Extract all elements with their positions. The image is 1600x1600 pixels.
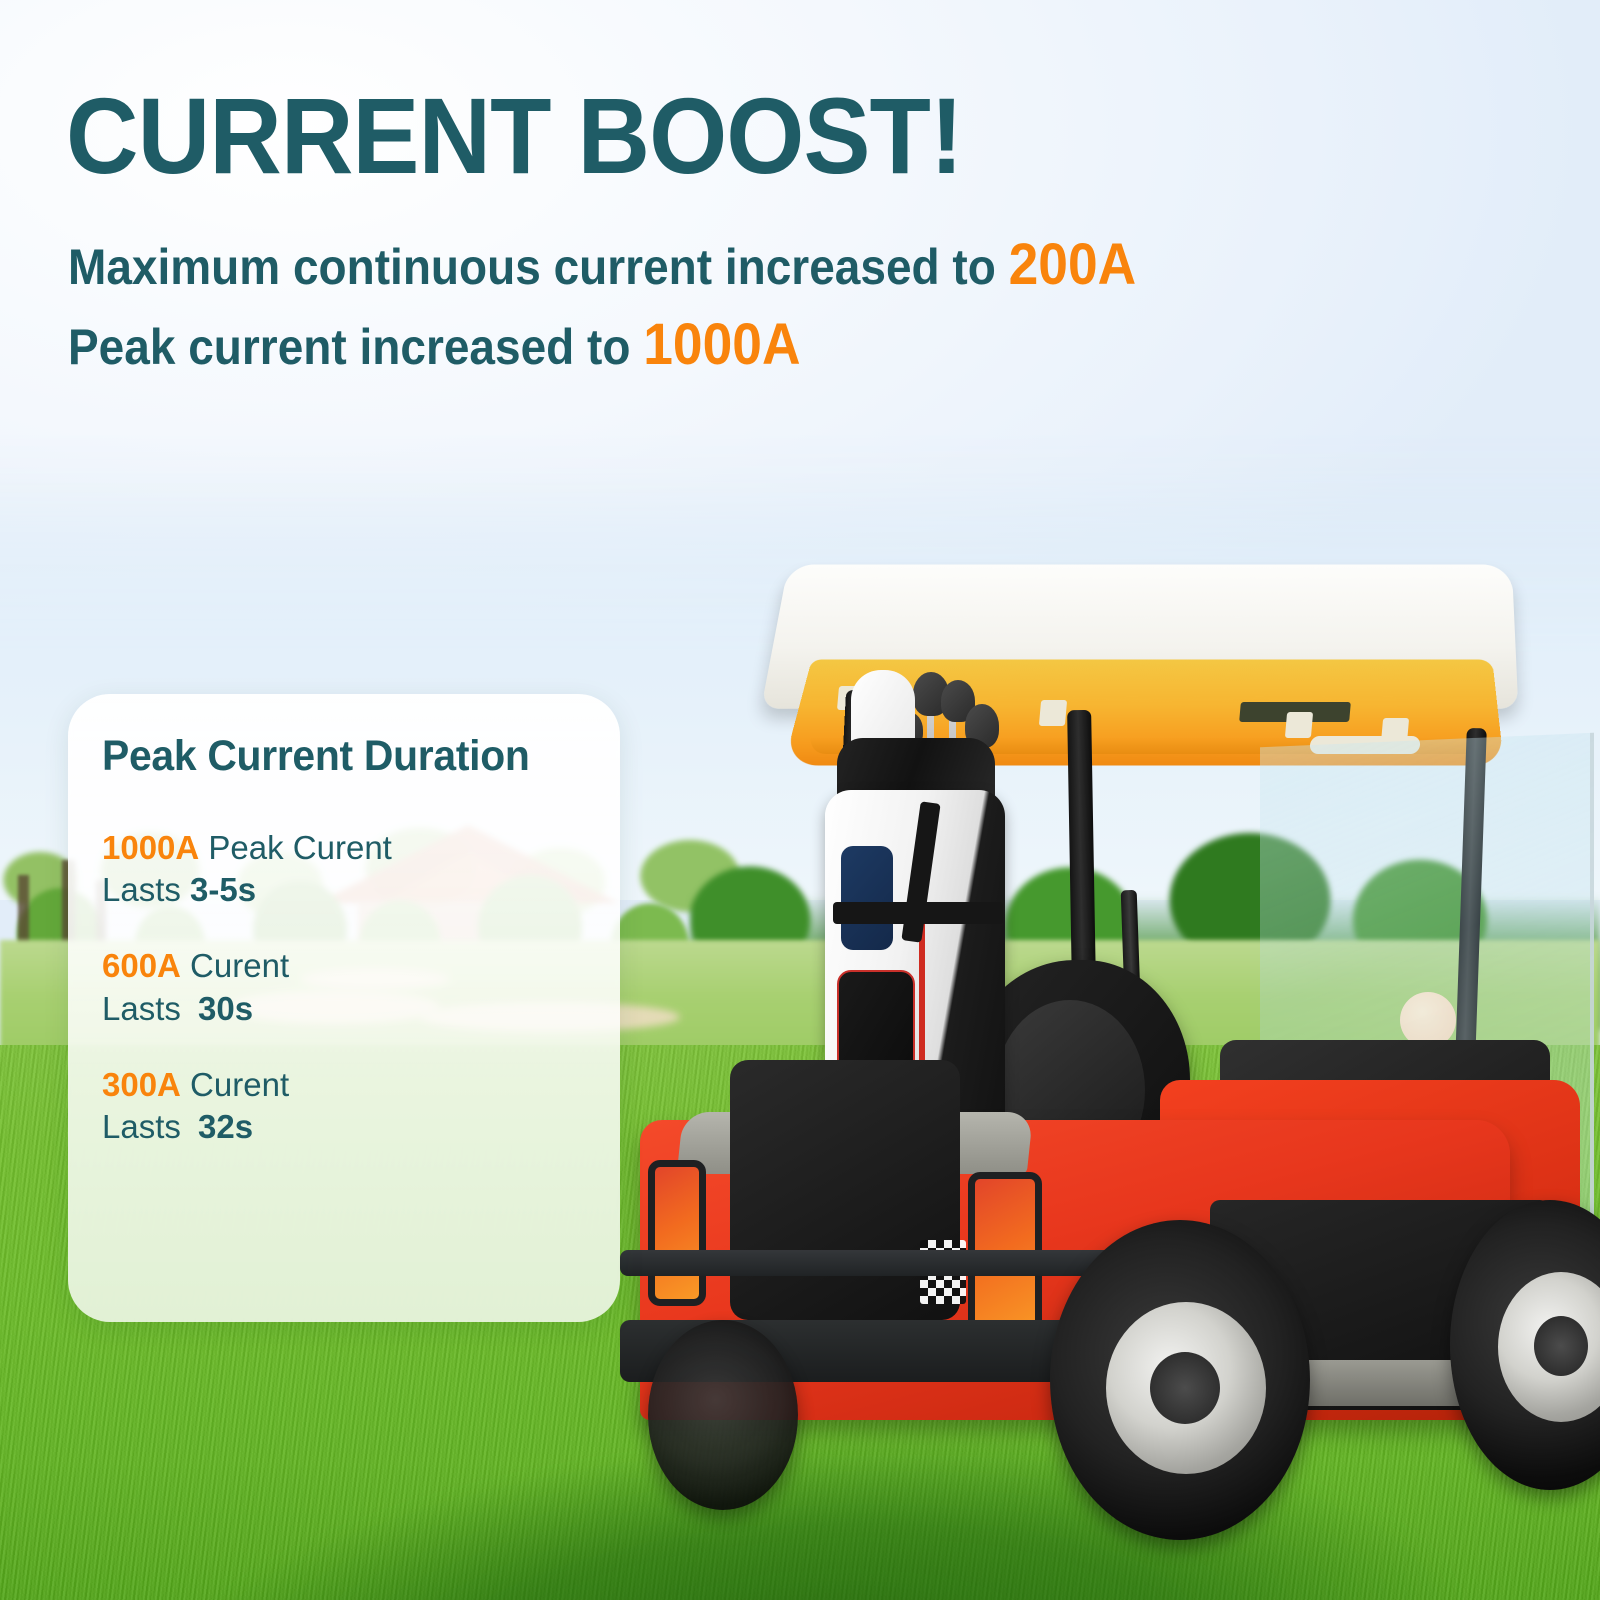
amps-value: 600A bbox=[102, 947, 181, 984]
amps-value: 300A bbox=[102, 1066, 181, 1103]
subtitle-2-value: 1000A bbox=[643, 312, 800, 377]
duration-row: 600A Curent Lasts 30s bbox=[102, 945, 594, 1029]
tail-light-left bbox=[648, 1160, 706, 1306]
duration-row-lasts-line: Lasts 3-5s bbox=[102, 869, 594, 911]
front-wheel-hub bbox=[1150, 1352, 1220, 1424]
golf-bag-navy-panel bbox=[841, 846, 893, 950]
subtitle-1-prefix: Maximum continuous current increased to bbox=[68, 239, 1009, 295]
duration-value: 32s bbox=[198, 1108, 253, 1145]
amps-label: Peak Curent bbox=[199, 829, 392, 866]
duration-value: 3-5s bbox=[190, 871, 256, 908]
far-left-tire bbox=[648, 1320, 798, 1510]
poster-canvas: CURRENT BOOST! Maximum continuous curren… bbox=[0, 0, 1600, 1600]
duration-row-amps-line: 300A Curent bbox=[102, 1064, 594, 1106]
subtitle-1-value: 200A bbox=[1009, 232, 1137, 297]
page-title: CURRENT BOOST! bbox=[66, 82, 962, 190]
golf-cart bbox=[620, 560, 1600, 1560]
canopy-hook bbox=[1285, 712, 1313, 738]
duration-row: 300A Curent Lasts 32s bbox=[102, 1064, 594, 1148]
canopy-hook bbox=[1039, 700, 1067, 726]
duration-row: 1000A Peak Curent Lasts 3-5s bbox=[102, 827, 594, 911]
lasts-word: Lasts bbox=[102, 871, 190, 908]
duration-row-lasts-line: Lasts 30s bbox=[102, 988, 594, 1030]
lasts-word: Lasts bbox=[102, 990, 190, 1027]
rear-wheel-hub bbox=[1534, 1316, 1588, 1376]
duration-row-lasts-line: Lasts 32s bbox=[102, 1106, 594, 1148]
amps-label: Curent bbox=[181, 947, 289, 984]
subtitle-2-prefix: Peak current increased to bbox=[68, 319, 643, 375]
amps-value: 1000A bbox=[102, 829, 199, 866]
duration-row-amps-line: 1000A Peak Curent bbox=[102, 827, 594, 869]
card-content: Peak Current Duration 1000A Peak Curent … bbox=[102, 732, 594, 1148]
subtitle-line-1: Maximum continuous current increased to … bbox=[68, 236, 1136, 294]
lasts-word: Lasts bbox=[102, 1108, 190, 1145]
duration-row-amps-line: 600A Curent bbox=[102, 945, 594, 987]
subtitle-line-2: Peak current increased to 1000A bbox=[68, 316, 801, 374]
duration-value: 30s bbox=[198, 990, 253, 1027]
card-title: Peak Current Duration bbox=[102, 732, 569, 781]
peak-current-duration-card: Peak Current Duration 1000A Peak Curent … bbox=[68, 694, 620, 1322]
amps-label: Curent bbox=[181, 1066, 289, 1103]
